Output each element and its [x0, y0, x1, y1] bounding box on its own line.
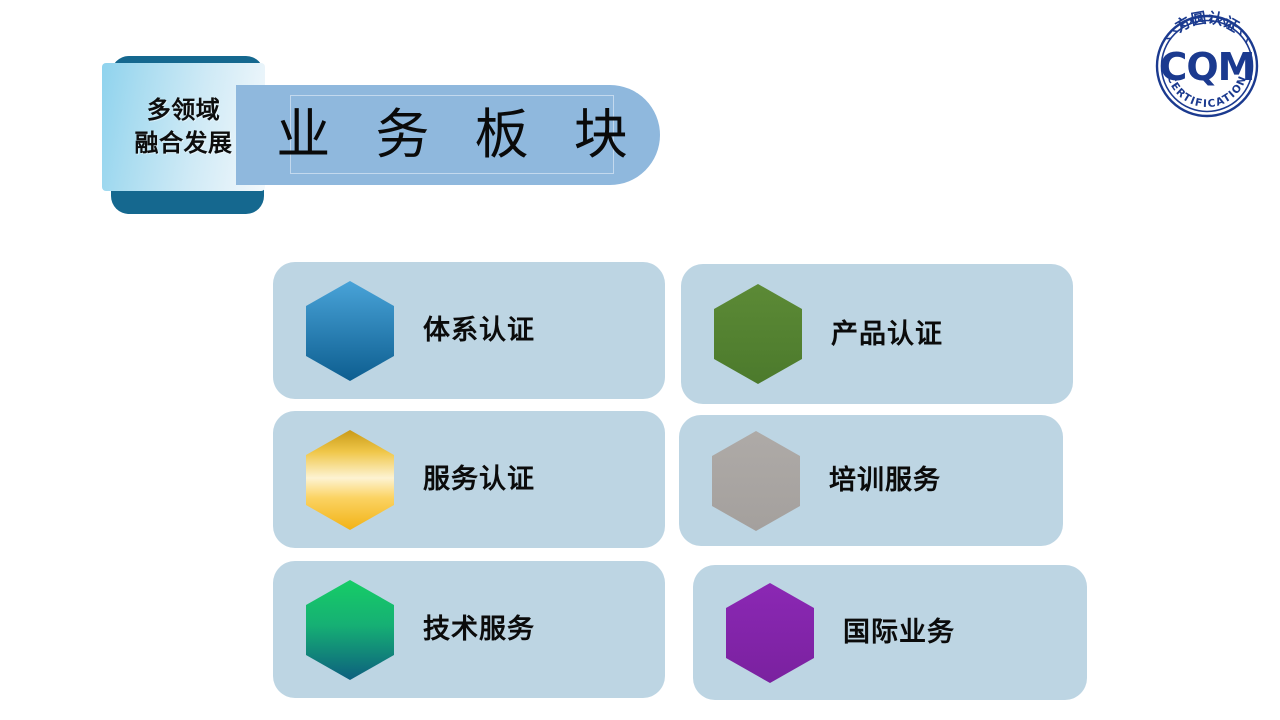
- business-card-international-business[interactable]: 国际业务: [693, 565, 1087, 700]
- business-card-service-certification[interactable]: 服务认证: [273, 411, 665, 548]
- hexagon-icon: [304, 428, 396, 532]
- business-card-label: 培训服务: [829, 467, 941, 494]
- business-card-label: 体系认证: [423, 317, 535, 344]
- business-card-label: 产品认证: [831, 321, 943, 348]
- hexagon-icon: [724, 581, 816, 685]
- business-card-label: 技术服务: [423, 616, 535, 643]
- hexagon-icon: [304, 578, 396, 682]
- hexagon-icon: [710, 429, 802, 533]
- business-card-training-service[interactable]: 培训服务: [679, 415, 1063, 546]
- business-card-label: 服务认证: [423, 466, 535, 493]
- business-sectors-grid: 体系认证 产品认证: [0, 0, 1280, 720]
- hexagon-icon: [712, 282, 804, 386]
- business-card-label: 国际业务: [843, 619, 955, 646]
- business-card-technical-service[interactable]: 技术服务: [273, 561, 665, 698]
- hexagon-icon: [304, 279, 396, 383]
- business-card-system-certification[interactable]: 体系认证: [273, 262, 665, 399]
- business-card-product-certification[interactable]: 产品认证: [681, 264, 1073, 404]
